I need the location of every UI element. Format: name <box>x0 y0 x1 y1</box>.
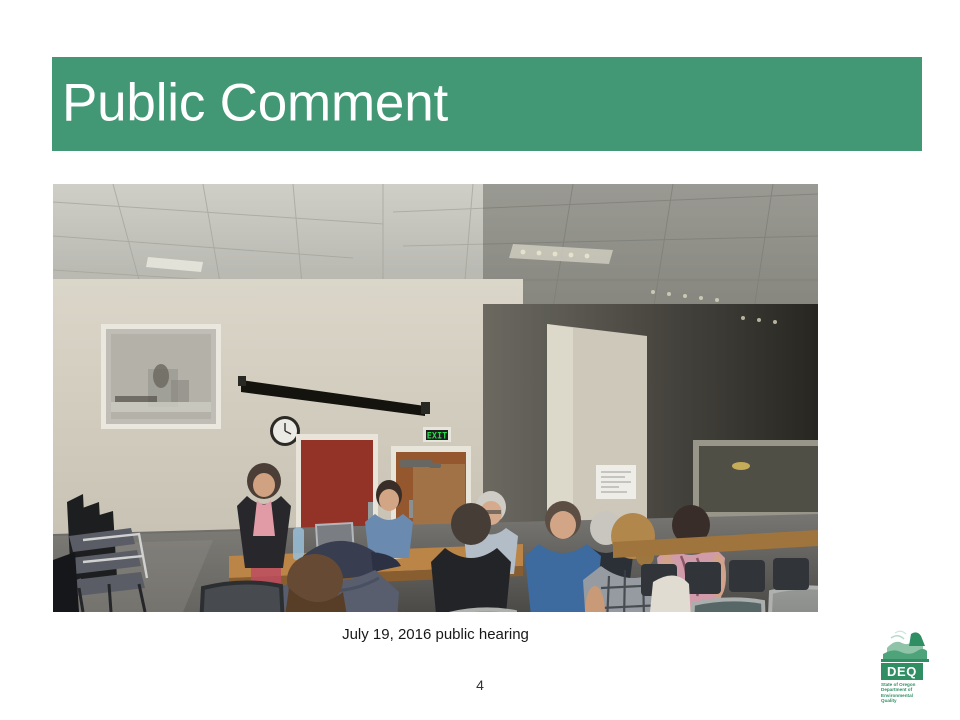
hearing-photo: EXIT <box>53 184 818 612</box>
deq-subtitle-line-4: Quality <box>881 698 935 703</box>
photo-caption: July 19, 2016 public hearing <box>53 626 818 643</box>
title-banner: Public Comment <box>52 57 922 151</box>
deq-acronym: DEQ <box>881 663 923 680</box>
photo-scene: EXIT <box>53 184 818 612</box>
deq-subtitle: State of Oregon Department of Environmen… <box>881 682 935 704</box>
page-number: 4 <box>0 677 960 693</box>
page-title: Public Comment <box>62 76 448 129</box>
oregon-landscape-icon <box>881 628 929 662</box>
slide: Public Comment <box>0 0 960 720</box>
deq-logo: DEQ State of Oregon Department of Enviro… <box>881 628 935 702</box>
